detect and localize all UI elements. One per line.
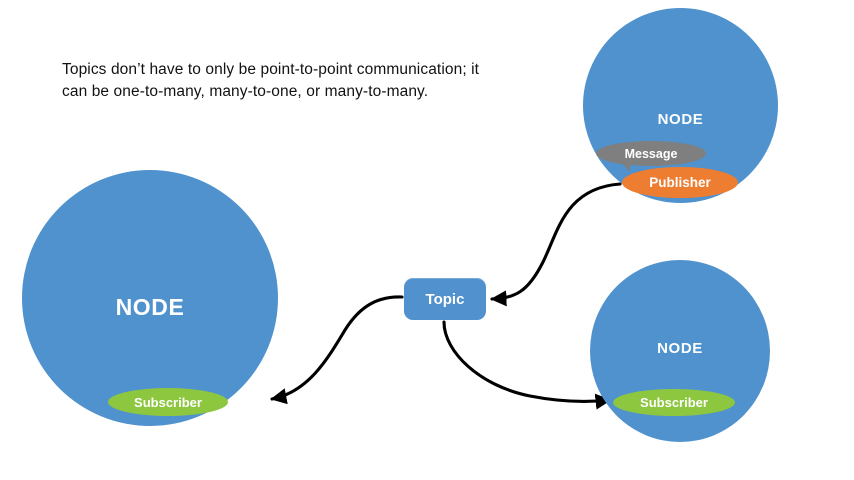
edge-publisher-to-topic [492,184,620,299]
slide-canvas: Topics don’t have to only be point-to-po… [0,0,854,480]
edge-topic-to-subscriber-left [272,297,402,399]
message-bubble-tail-icon [612,160,630,172]
node-left-label: NODE [22,294,278,321]
topic-box[interactable]: Topic [404,278,486,320]
topic-box-label: Topic [426,291,465,308]
message-bubble-label: Message [625,147,678,161]
subscriber-pill-left-label: Subscriber [134,395,202,410]
subscriber-pill-left[interactable]: Subscriber [108,388,228,416]
node-publisher-label: NODE [583,111,778,128]
subscriber-pill-right-label: Subscriber [640,395,708,410]
caption-text: Topics don’t have to only be point-to-po… [62,59,482,104]
node-subscriber-right-label: NODE [590,340,770,357]
edge-topic-to-subscriber-right [444,322,610,401]
publisher-pill[interactable]: Publisher [622,167,738,198]
publisher-pill-label: Publisher [649,175,711,190]
subscriber-pill-right[interactable]: Subscriber [613,389,735,416]
